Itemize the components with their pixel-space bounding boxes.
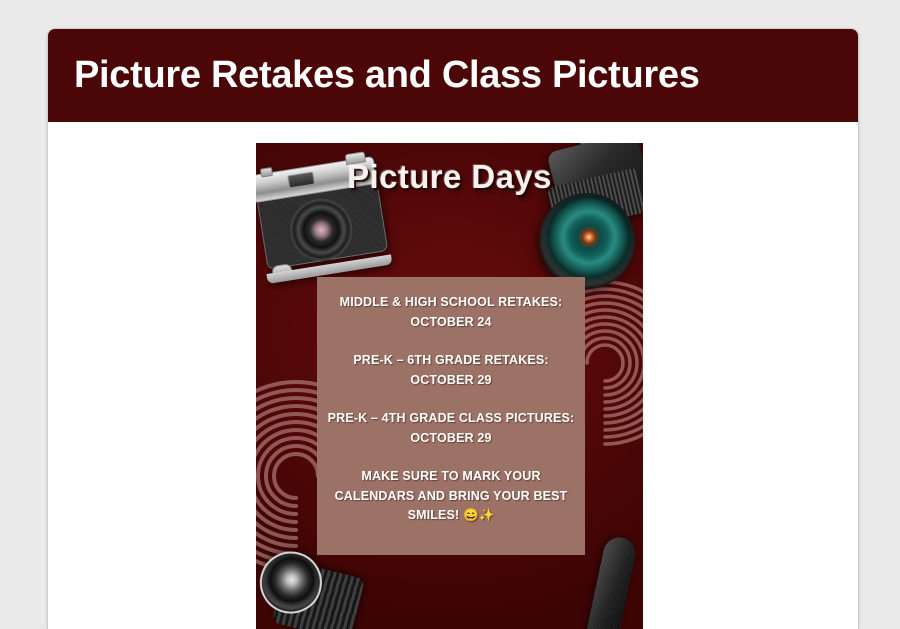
poster-line: CALENDARS AND BRING YOUR BEST bbox=[327, 487, 575, 507]
poster-line: OCTOBER 29 bbox=[327, 429, 575, 449]
poster-line-gap bbox=[327, 390, 575, 409]
page-title: Picture Retakes and Class Pictures bbox=[74, 54, 700, 97]
page-card: Picture Retakes and Class Pictures bbox=[48, 29, 858, 629]
picture-days-poster: Picture Days MIDDLE & HIGH SCHOOL RETAKE… bbox=[256, 143, 643, 629]
poster-line-gap bbox=[327, 448, 575, 467]
poster-line: OCTOBER 24 bbox=[327, 313, 575, 333]
poster-line: PRE-K – 4TH GRADE CLASS PICTURES: bbox=[327, 409, 575, 429]
poster-line: SMILES! 😄✨ bbox=[327, 506, 575, 526]
poster-line-gap bbox=[327, 332, 575, 351]
poster-background: Picture Days MIDDLE & HIGH SCHOOL RETAKE… bbox=[256, 143, 643, 629]
poster-line: PRE-K – 6TH GRADE RETAKES: bbox=[327, 351, 575, 371]
poster-line: MIDDLE & HIGH SCHOOL RETAKES: bbox=[327, 293, 575, 313]
poster-text-panel: MIDDLE & HIGH SCHOOL RETAKES: OCTOBER 24… bbox=[317, 277, 585, 555]
poster-heading: Picture Days bbox=[256, 158, 643, 196]
microphone-icon bbox=[580, 534, 643, 629]
poster-line: OCTOBER 29 bbox=[327, 371, 575, 391]
poster-line: MAKE SURE TO MARK YOUR bbox=[327, 467, 575, 487]
page-header: Picture Retakes and Class Pictures bbox=[48, 29, 858, 122]
